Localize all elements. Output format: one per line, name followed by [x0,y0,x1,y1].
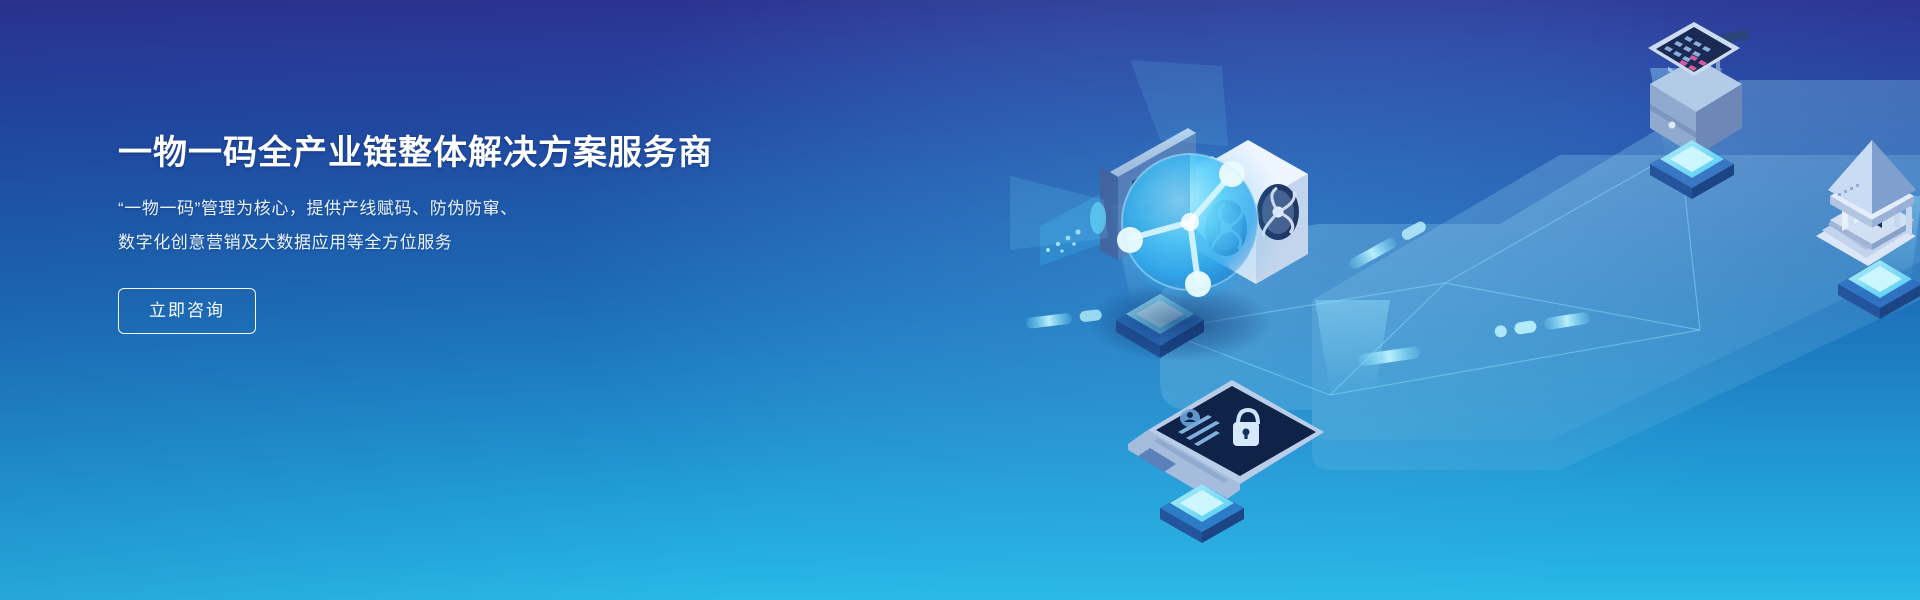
hero-subtitle-line-1: “一物一码”管理为核心，提供产线赋码、防伪防窜、 [118,192,778,226]
consult-now-button[interactable]: 立即咨询 [118,288,256,334]
hero-subtitle-line-2: 数字化创意营销及大数据应用等全方位服务 [118,226,778,260]
hero-subtitle: “一物一码”管理为核心，提供产线赋码、防伪防窜、 数字化创意营销及大数据应用等全… [118,192,778,260]
hero-copy: 一物一码全产业链整体解决方案服务商 “一物一码”管理为核心，提供产线赋码、防伪防… [118,132,778,334]
page-title: 一物一码全产业链整体解决方案服务商 [118,132,778,175]
hero-banner: 一物一码全产业链整体解决方案服务商 “一物一码”管理为核心，提供产线赋码、防伪防… [0,0,1920,600]
hero-illustration [860,0,1920,600]
